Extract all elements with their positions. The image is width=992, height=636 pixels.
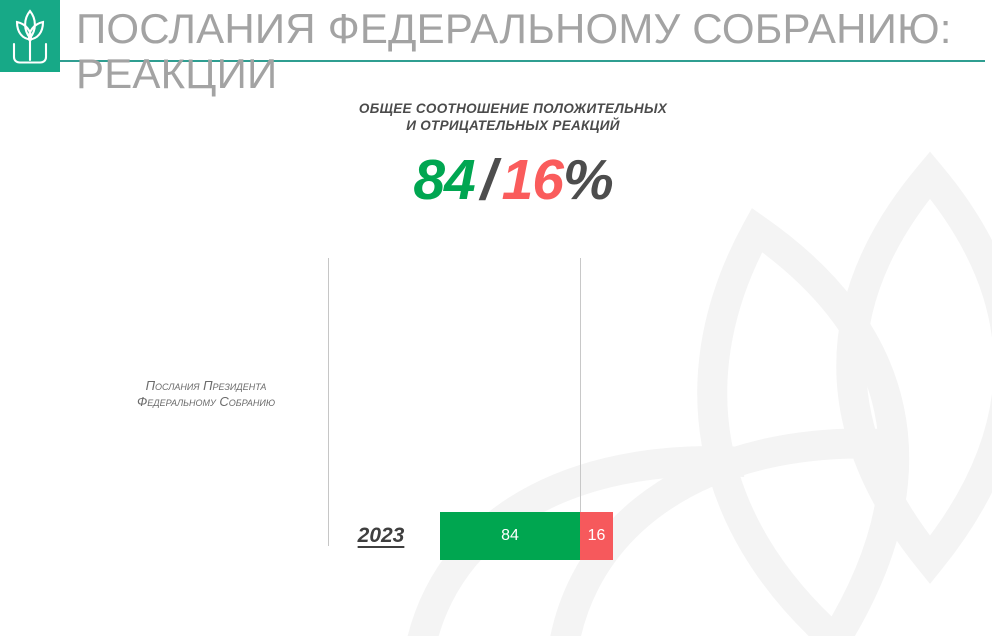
ratio-headline: 84/16% [330,148,696,212]
ratio-negative-value: 16 [502,148,563,212]
plant-leaf-logo-icon [0,0,60,72]
chart-series-label: Послания Президента Федеральному Собрани… [96,378,316,410]
page-title: Послания Федеральному Собранию: реакции [76,6,976,96]
ratio-caption: Общее соотношение положительных и отрица… [330,100,696,134]
chart-row-year-label: 2023 [340,512,422,560]
chart-bar-positive[interactable]: 84 [440,512,580,560]
chart-category-axis [328,258,329,546]
ratio-percent-sign: % [563,148,613,212]
brand-logo [0,0,60,72]
slide-canvas: Послания Федеральному Собранию: реакции … [0,0,992,636]
ratio-positive-value: 84 [413,148,474,212]
chart-bar-negative[interactable]: 16 [580,512,613,560]
chart-center-gridline [580,258,581,546]
ratio-separator: / [475,148,502,212]
